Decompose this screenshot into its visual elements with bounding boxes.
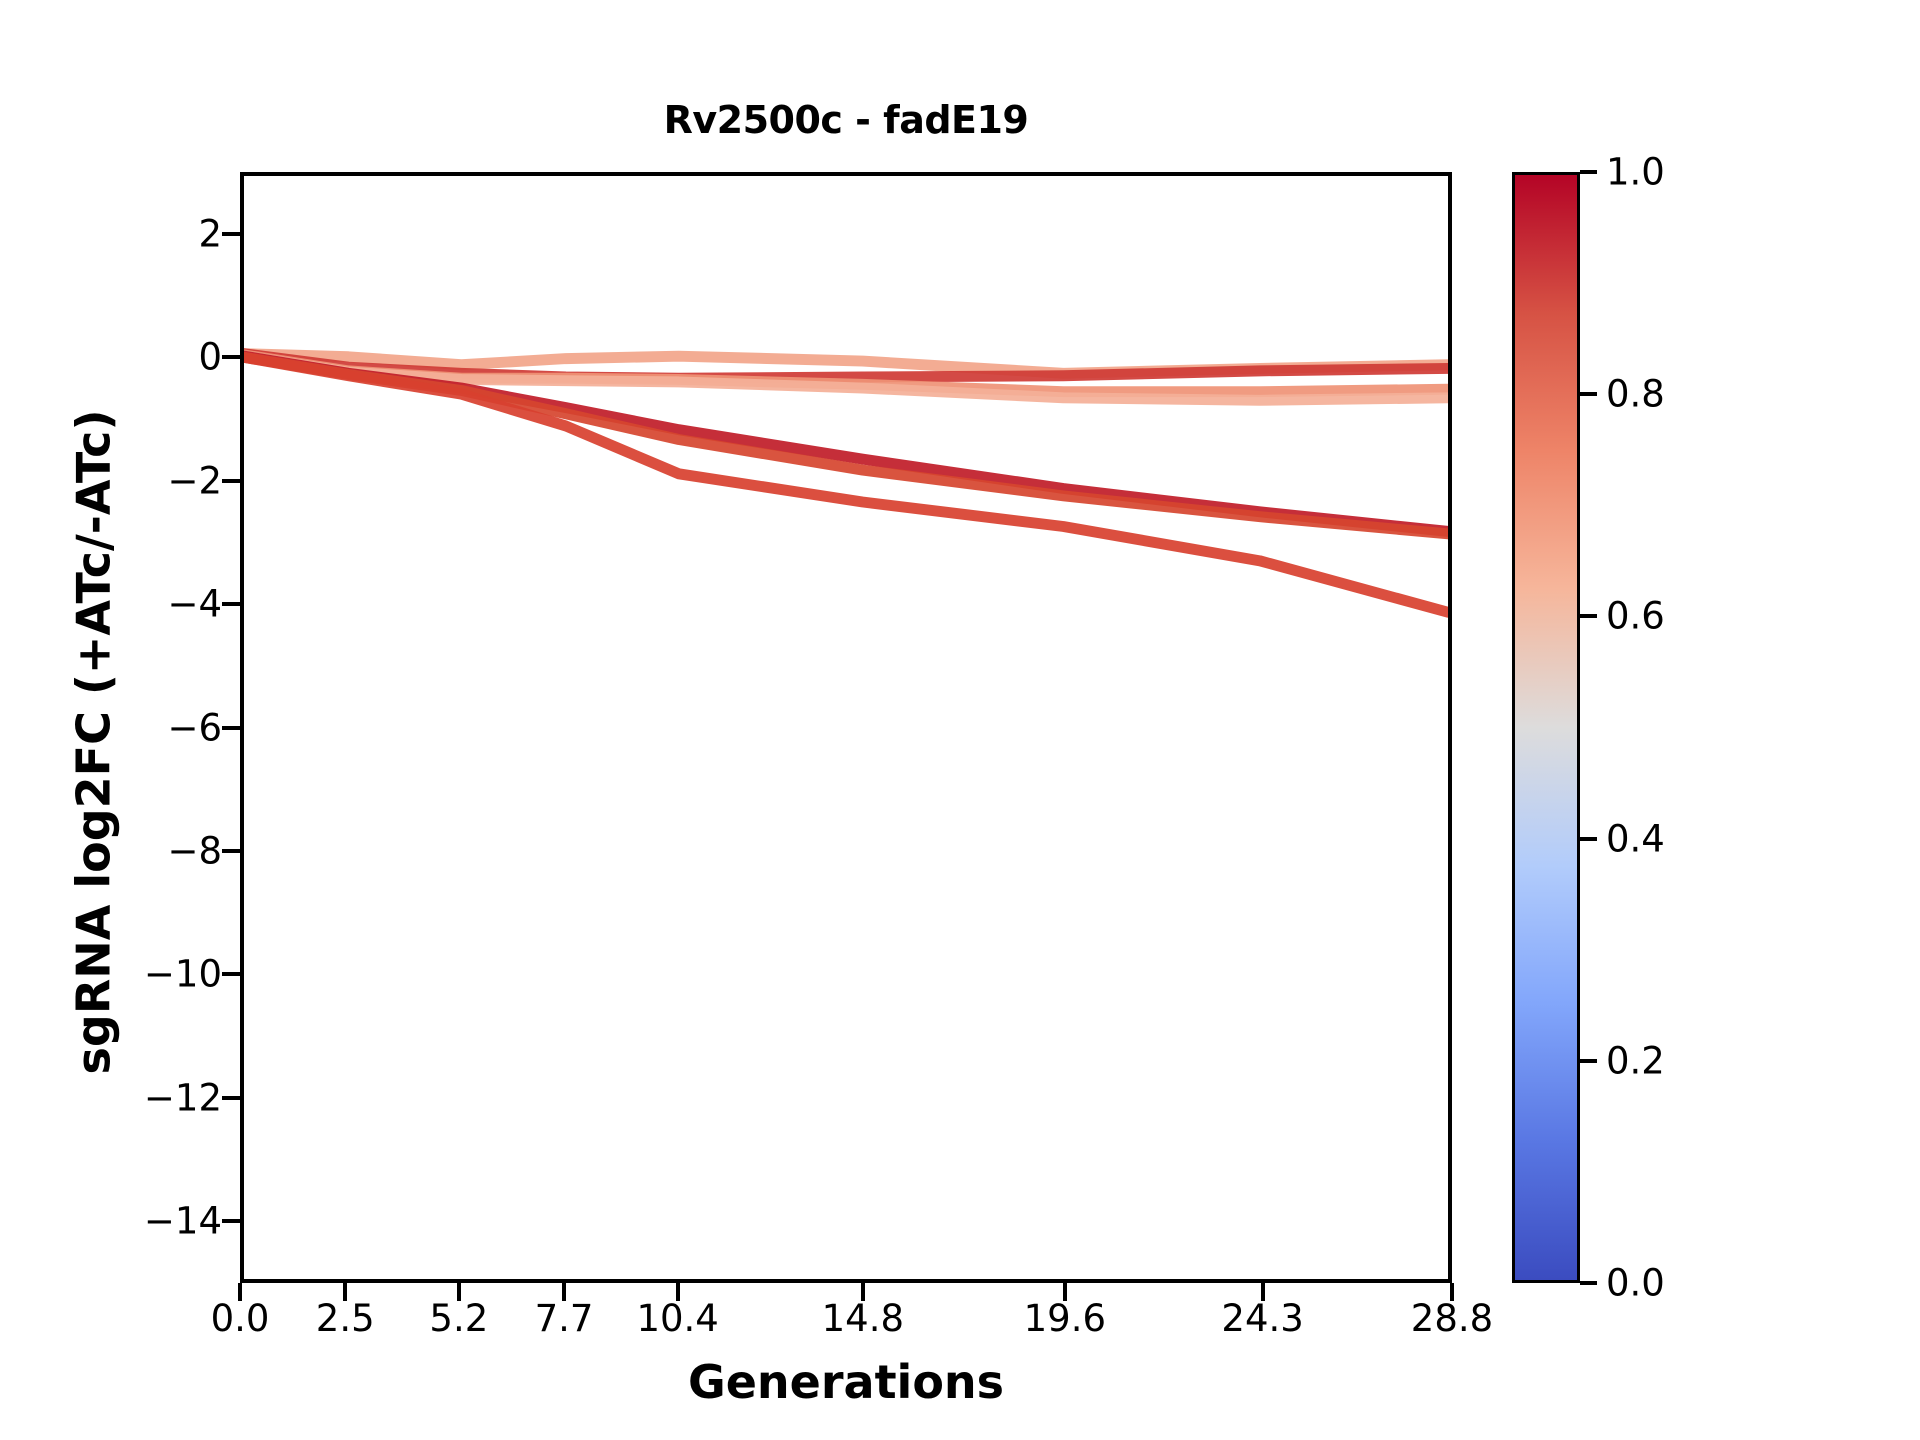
y-tick-label: −6 [167, 706, 222, 749]
x-tick-label: 28.8 [1411, 1297, 1493, 1340]
colorbar-tick-mark [1580, 392, 1597, 396]
x-axis-label: Generations [240, 1355, 1452, 1409]
colorbar-tick-label: 0.0 [1606, 1262, 1665, 1305]
colorbar-tick-mark [1580, 837, 1597, 841]
colorbar-tick-mark [1580, 614, 1597, 618]
colorbar: 0.00.20.40.60.81.0 [1512, 172, 1580, 1283]
colorbar-tick-mark [1580, 170, 1597, 174]
x-tick-label: 10.4 [636, 1297, 718, 1340]
colorbar-gradient [1512, 172, 1580, 1283]
y-tick-label: 2 [198, 212, 222, 255]
y-tick-mark [222, 602, 240, 606]
y-tick-mark [222, 355, 240, 359]
colorbar-tick-label: 0.6 [1606, 595, 1665, 638]
x-tick-label: 2.5 [316, 1297, 375, 1340]
y-tick-mark [222, 726, 240, 730]
colorbar-tick-label: 0.4 [1606, 817, 1665, 860]
y-tick-mark [222, 1096, 240, 1100]
y-tick-label: −8 [167, 829, 222, 872]
x-tick-label: 14.8 [822, 1297, 904, 1340]
colorbar-tick-label: 1.0 [1606, 151, 1665, 194]
y-tick-label: −12 [144, 1076, 222, 1119]
x-tick-label: 0.0 [211, 1297, 270, 1340]
x-tick-label: 7.7 [535, 1297, 594, 1340]
x-tick-label: 19.6 [1024, 1297, 1106, 1340]
y-tick-mark [222, 479, 240, 483]
y-tick-label: 0 [198, 336, 222, 379]
colorbar-tick-mark [1580, 1059, 1597, 1063]
colorbar-tick-label: 0.8 [1606, 373, 1665, 416]
y-tick-label: −14 [144, 1200, 222, 1243]
colorbar-tick-mark [1580, 1281, 1597, 1285]
x-tick-label: 24.3 [1221, 1297, 1303, 1340]
y-tick-mark [222, 849, 240, 853]
y-tick-label: −10 [144, 953, 222, 996]
x-tick-label: 5.2 [429, 1297, 488, 1340]
y-tick-mark [222, 232, 240, 236]
figure-canvas: Rv2500c - fadE19 20−2−4−6−8−10−12−14 0.0… [0, 0, 1920, 1440]
y-axis-label: sgRNA log2FC (+ATc/-ATc) [67, 187, 121, 1298]
page-title: Rv2500c - fadE19 [240, 98, 1452, 142]
y-tick-label: −2 [167, 459, 222, 502]
y-tick-mark [222, 972, 240, 976]
colorbar-tick-label: 0.2 [1606, 1039, 1665, 1082]
line-series-group [244, 176, 1448, 1279]
plot-area [240, 172, 1452, 1283]
y-tick-mark [222, 1219, 240, 1223]
y-tick-label: −4 [167, 583, 222, 626]
